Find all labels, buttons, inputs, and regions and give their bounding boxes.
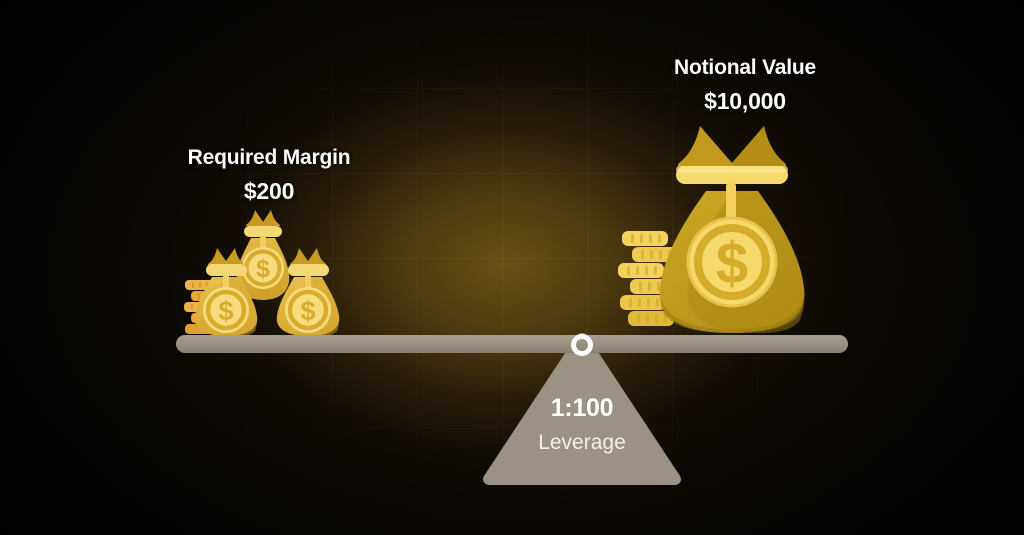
notional-value-title: Notional Value: [645, 57, 845, 78]
balance-beam: [176, 335, 848, 353]
notional-value-label-group: Notional Value $10,000: [645, 57, 845, 113]
svg-text:$: $: [256, 255, 270, 283]
notional-value-amount: $10,000: [645, 90, 845, 113]
required-margin-title: Required Margin: [169, 147, 369, 168]
required-margin-label-group: Required Margin $200: [169, 147, 369, 203]
money-bags-small-icon: $ $ $: [183, 198, 355, 338]
svg-text:$: $: [716, 231, 748, 296]
svg-text:$: $: [300, 296, 315, 326]
pivot-ring-icon: [571, 334, 593, 356]
svg-text:$: $: [218, 296, 233, 326]
leverage-infographic: Required Margin $200 Notional Value $10,…: [0, 0, 1024, 535]
money-bag-large-icon: $: [614, 121, 850, 337]
